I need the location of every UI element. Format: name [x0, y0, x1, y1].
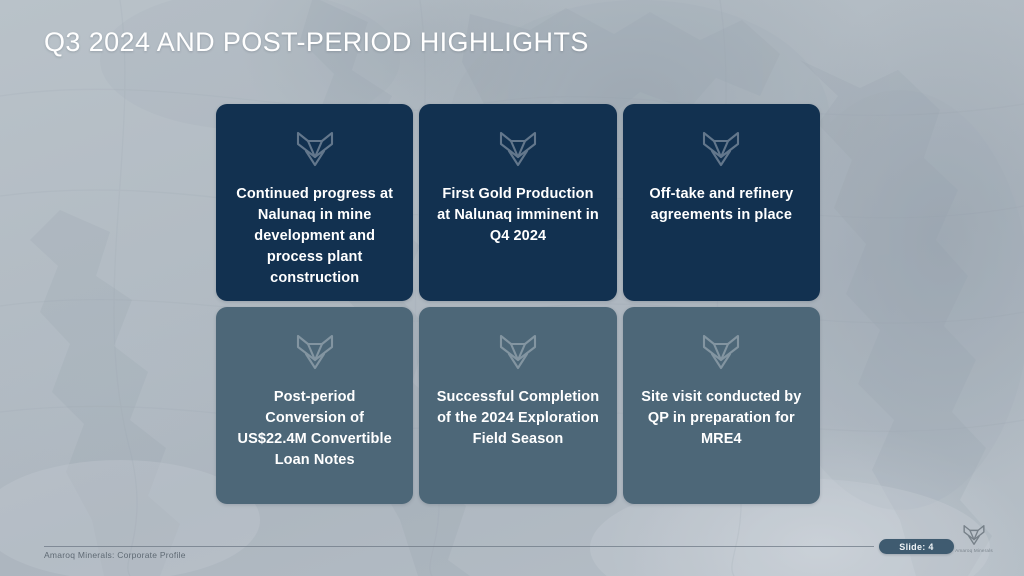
highlight-card-4[interactable]: Post-period Conversion of US$22.4M Conve…	[216, 307, 413, 504]
brand-name: Amaroq Minerals	[955, 548, 993, 553]
highlight-card-2[interactable]: First Gold Production at Nalunaq imminen…	[419, 104, 616, 301]
footer-divider	[44, 546, 874, 547]
highlight-card-text: Off-take and refinery agreements in plac…	[623, 184, 820, 226]
highlight-card-text: Post-period Conversion of US$22.4M Conve…	[216, 387, 413, 471]
highlight-card-1[interactable]: Continued progress at Nalunaq in mine de…	[216, 104, 413, 301]
highlights-grid: Continued progress at Nalunaq in mine de…	[216, 104, 820, 504]
fox-head-icon	[701, 333, 741, 371]
fox-head-icon	[295, 130, 335, 168]
fox-head-icon	[498, 130, 538, 168]
highlight-card-3[interactable]: Off-take and refinery agreements in plac…	[623, 104, 820, 301]
highlight-card-5[interactable]: Successful Completion of the 2024 Explor…	[419, 307, 616, 504]
highlight-card-text: First Gold Production at Nalunaq imminen…	[419, 184, 616, 247]
footer-note: Amaroq Minerals: Corporate Profile	[44, 550, 186, 560]
fox-head-icon	[962, 524, 986, 546]
highlight-card-text: Site visit conducted by QP in preparatio…	[623, 387, 820, 450]
fox-head-icon	[701, 130, 741, 168]
highlight-card-text: Continued progress at Nalunaq in mine de…	[216, 184, 413, 289]
slide-canvas: Q3 2024 AND POST-PERIOD HIGHLIGHTS Conti…	[0, 0, 1024, 576]
slide-number-badge: Slide: 4	[879, 539, 954, 554]
fox-head-icon	[295, 333, 335, 371]
fox-head-icon	[498, 333, 538, 371]
highlight-card-6[interactable]: Site visit conducted by QP in preparatio…	[623, 307, 820, 504]
highlight-card-text: Successful Completion of the 2024 Explor…	[419, 387, 616, 450]
brand-logo: Amaroq Minerals	[952, 524, 996, 564]
slide-number-label: Slide: 4	[899, 542, 933, 552]
page-title: Q3 2024 AND POST-PERIOD HIGHLIGHTS	[44, 27, 589, 58]
